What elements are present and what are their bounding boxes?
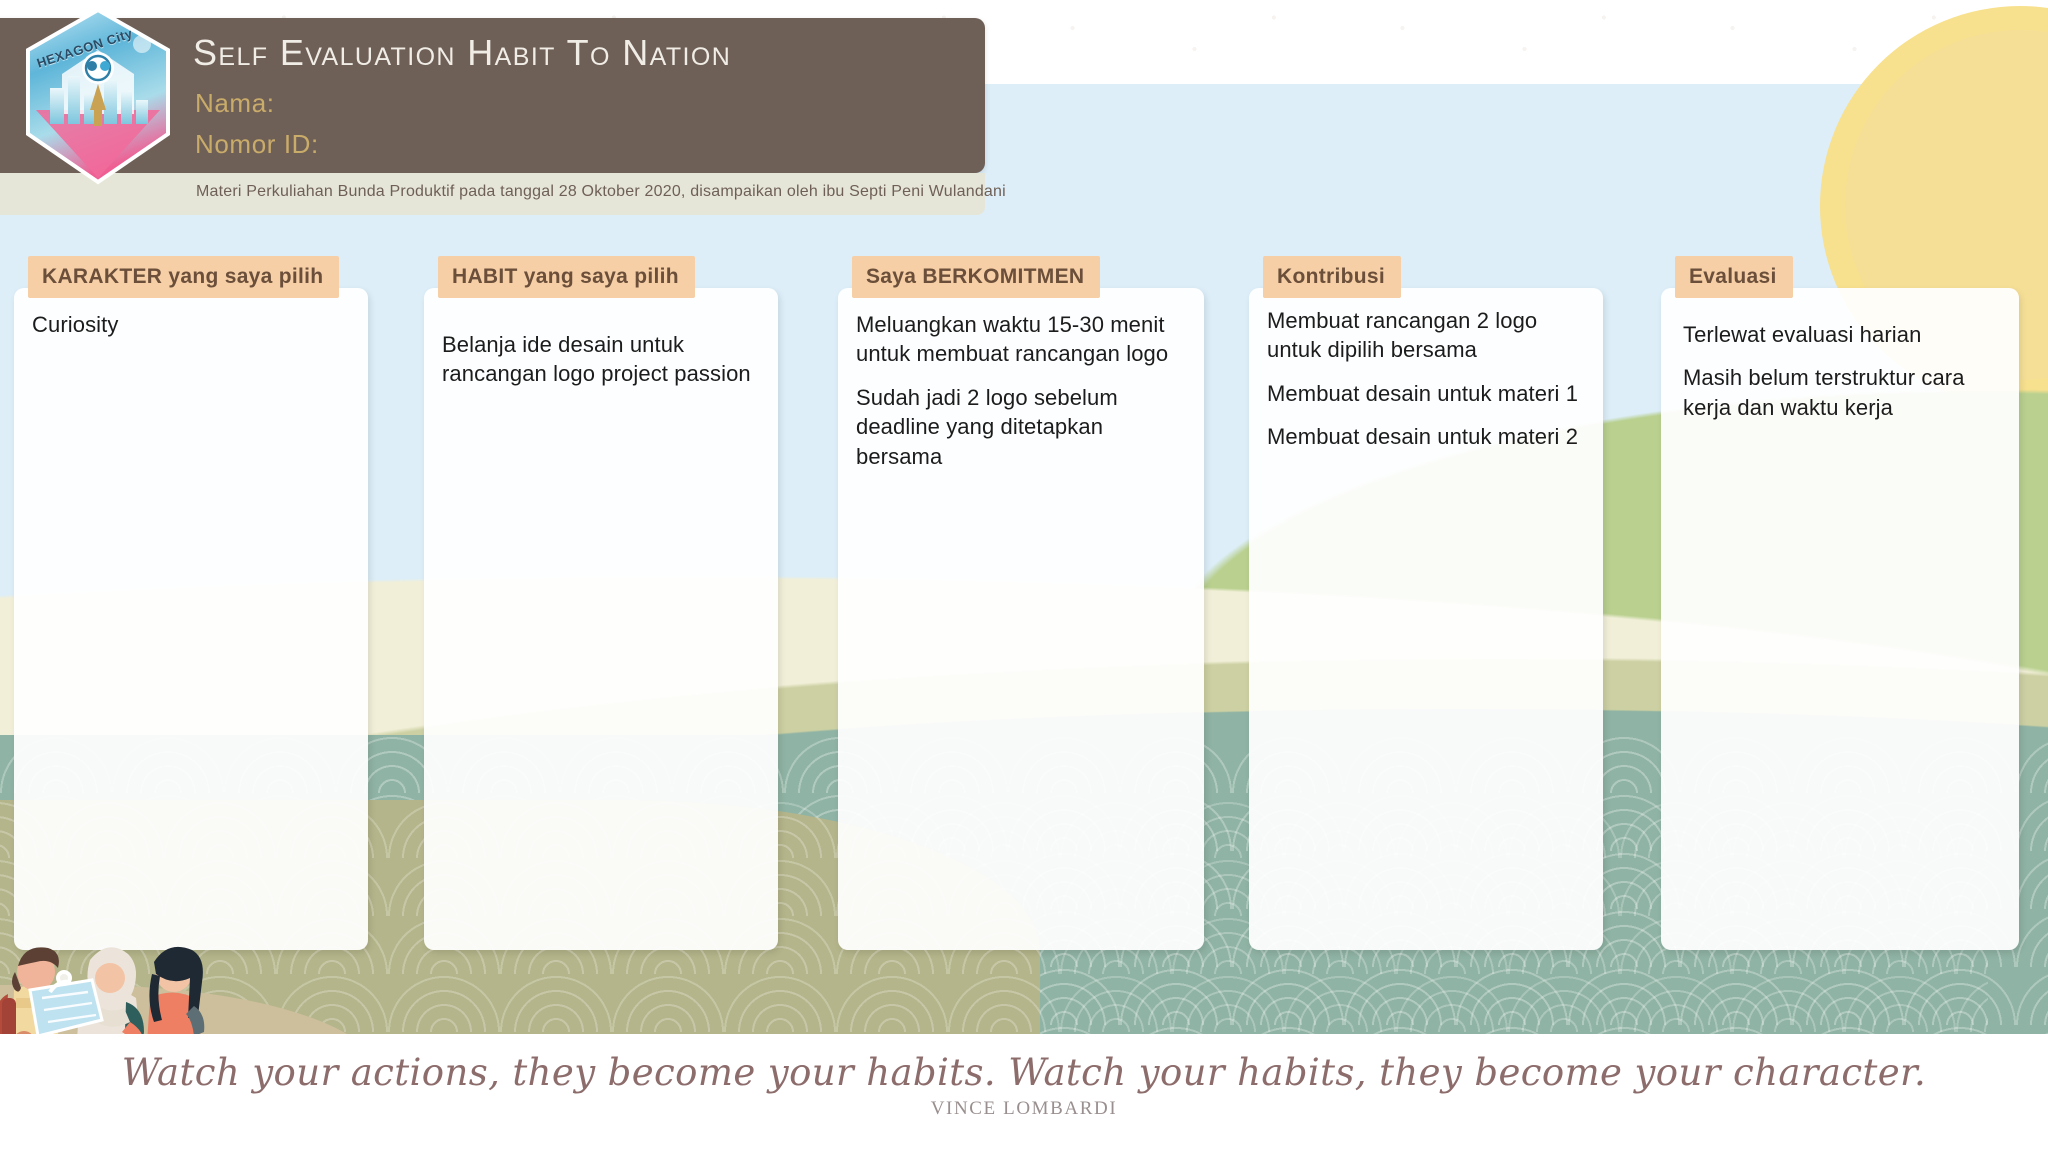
card-body-berkomitmen: Meluangkan waktu 15-30 menit untuk membu… [856,310,1190,485]
page-title: Self Evaluation Habit To Nation [193,32,731,74]
card-label-evaluasi: Evaluasi [1675,256,1793,298]
card-label-karakter: KARAKTER yang saya pilih [28,256,339,298]
poster-canvas: HEXAGON City Self Evaluation Habit To Na… [0,0,2048,1152]
card-karakter[interactable]: KARAKTER yang saya pilih Curiosity [14,288,368,950]
id-label: Nomor ID: [195,129,319,160]
card-text-item: Membuat desain untuk materi 2 [1267,422,1589,451]
card-text-item: Membuat desain untuk materi 1 [1267,379,1589,408]
card-body-kontribusi: Membuat rancangan 2 logo untuk dipilih b… [1267,306,1589,466]
name-label: Nama: [195,88,275,119]
card-text-item: Membuat rancangan 2 logo untuk dipilih b… [1267,306,1589,365]
card-text-item: Sudah jadi 2 logo sebelum deadline yang … [856,383,1190,471]
card-text-item: Meluangkan waktu 15-30 menit untuk membu… [856,310,1190,369]
hexagon-badge-svg [18,6,178,186]
card-label-habit: HABIT yang saya pilih [438,256,695,298]
card-body-evaluasi: Terlewat evaluasi harianMasih belum ters… [1683,320,2005,436]
card-habit[interactable]: HABIT yang saya pilih Belanja ide desain… [424,288,778,950]
hexagon-city-badge-icon: HEXAGON City [18,6,178,186]
footer-quote-author: Vince Lombardi [0,1098,2048,1120]
card-evaluasi[interactable]: Evaluasi Terlewat evaluasi harianMasih b… [1661,288,2019,950]
card-kontribusi[interactable]: Kontribusi Membuat rancangan 2 logo untu… [1249,288,1603,950]
card-body-karakter: Curiosity [32,310,354,353]
card-berkomitmen[interactable]: Saya BERKOMITMEN Meluangkan waktu 15-30 … [838,288,1204,950]
card-label-kontribusi: Kontribusi [1263,256,1401,298]
card-text-item: Terlewat evaluasi harian [1683,320,2005,349]
card-label-berkomitmen: Saya BERKOMITMEN [852,256,1100,298]
header-subtitle: Materi Perkuliahan Bunda Produktif pada … [196,183,1006,201]
card-text-item: Belanja ide desain untuk rancangan logo … [442,330,764,389]
footer-quote: Watch your actions, they become your hab… [0,1051,2048,1094]
card-body-habit: Belanja ide desain untuk rancangan logo … [442,330,764,403]
card-text-item: Curiosity [32,310,354,339]
card-text-item: Masih belum terstruktur cara kerja dan w… [1683,363,2005,422]
